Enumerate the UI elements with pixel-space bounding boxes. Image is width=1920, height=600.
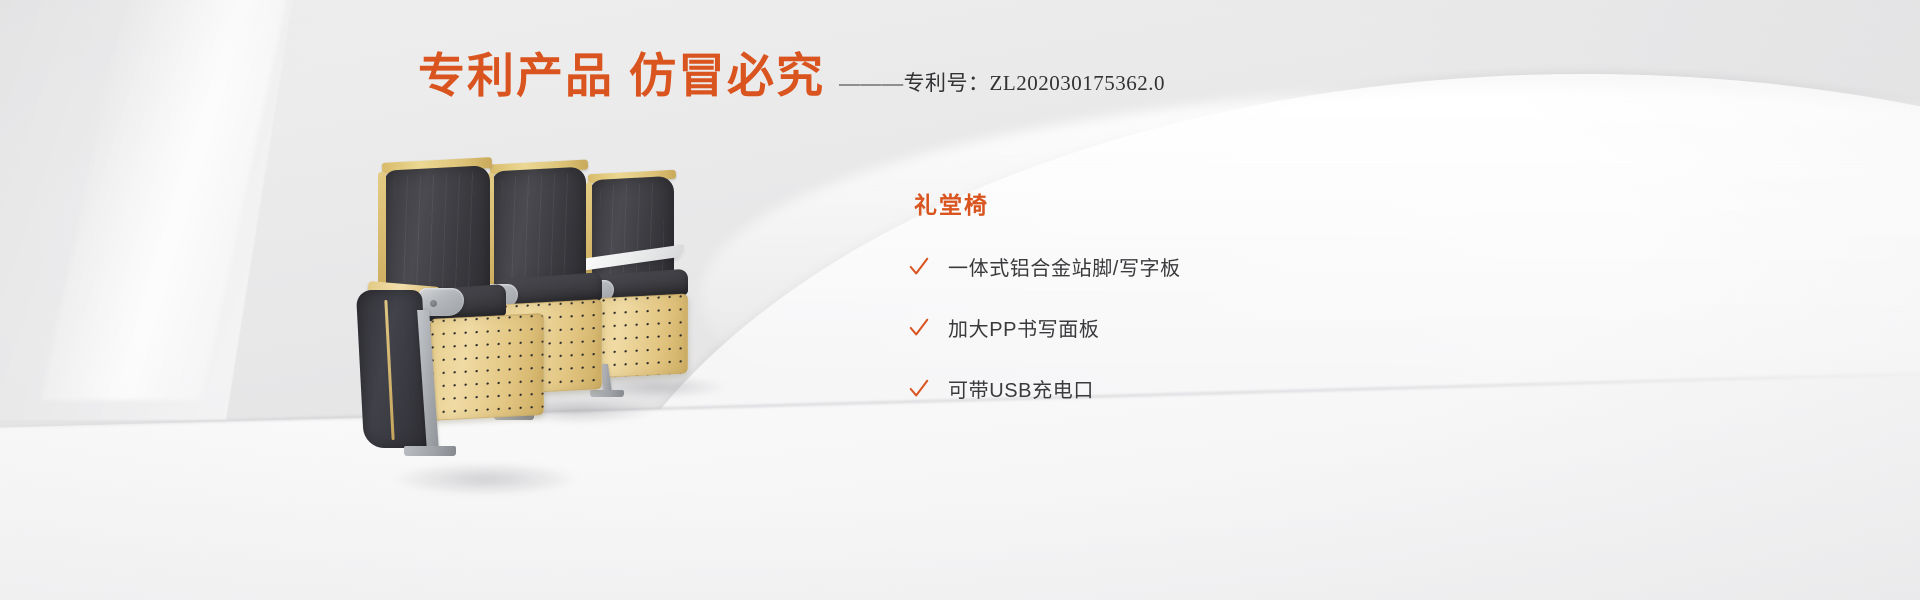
check-icon bbox=[908, 256, 930, 278]
feature-item-label: 一体式铝合金站脚/写字板 bbox=[948, 252, 1181, 281]
chair-foot bbox=[404, 446, 456, 456]
check-icon bbox=[908, 378, 930, 400]
feature-item: 可带USB充电口 bbox=[908, 374, 1328, 403]
chair-unit-1 bbox=[360, 160, 540, 480]
feature-item: 加大PP书写面板 bbox=[908, 313, 1328, 342]
product-image-auditorium-chairs bbox=[330, 140, 770, 490]
patent-number: ———专利号：ZL202030175362.0 bbox=[839, 73, 1165, 99]
headline-title: 专利产品 仿冒必究 bbox=[418, 52, 825, 99]
feature-list-title: 礼堂椅 bbox=[914, 186, 1328, 220]
feature-item: 一体式铝合金站脚/写字板 bbox=[908, 252, 1328, 281]
chair-pp-writing-panel bbox=[430, 313, 544, 421]
feature-list: 礼堂椅 一体式铝合金站脚/写字板 加大PP书写面板 可带USB充电口 bbox=[908, 186, 1328, 435]
chair-seatback bbox=[384, 165, 490, 303]
chair-arm-pivot bbox=[430, 300, 437, 307]
product-banner: 专利产品 仿冒必究 ———专利号：ZL202030175362.0 礼堂椅 一体… bbox=[0, 0, 1920, 600]
feature-item-label: 可带USB充电口 bbox=[948, 374, 1094, 403]
headline-group: 专利产品 仿冒必究 ———专利号：ZL202030175362.0 bbox=[418, 52, 1165, 99]
feature-item-label: 加大PP书写面板 bbox=[948, 313, 1099, 342]
check-icon bbox=[908, 317, 930, 339]
